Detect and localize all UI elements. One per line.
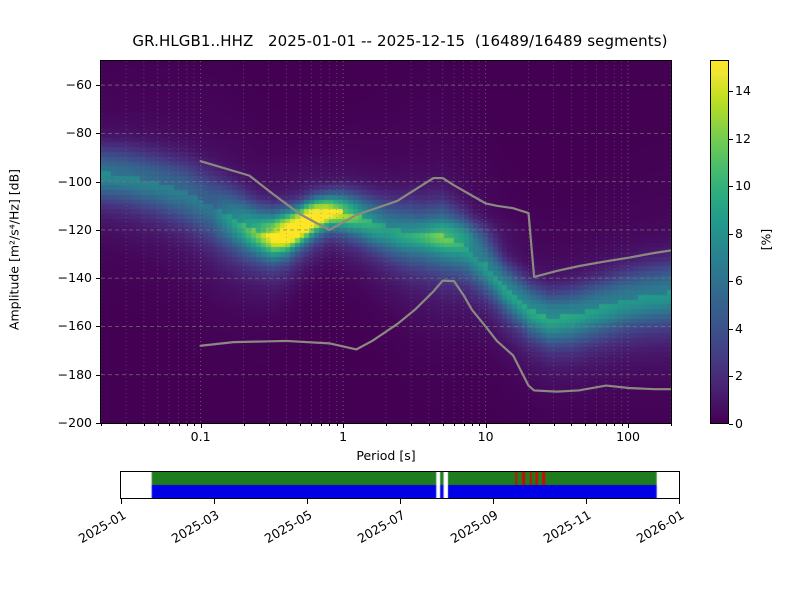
x-minor-tick (179, 424, 180, 426)
coverage-bars (121, 472, 679, 498)
colorbar-gradient (711, 61, 728, 423)
y-tick-label: −100 (46, 174, 92, 189)
y-tick-label: −140 (46, 270, 92, 285)
ppsd-histogram-heatmap (101, 61, 671, 423)
x-minor-tick (622, 424, 623, 426)
x-minor-tick (337, 424, 338, 426)
timeline-tick-label: 2025-05 (253, 507, 314, 551)
x-minor-tick (671, 424, 672, 426)
timeline-tick-label: 2025-01 (67, 507, 128, 551)
y-tick-label: −160 (46, 318, 92, 333)
y-tick-label: −60 (46, 77, 92, 92)
x-minor-tick (321, 424, 322, 426)
colorbar-tick-mark (729, 424, 733, 425)
y-tick-mark (96, 423, 100, 424)
x-minor-tick (606, 424, 607, 426)
x-minor-tick (411, 424, 412, 426)
colorbar-tick-label: 14 (735, 83, 751, 98)
y-tick-label: −120 (46, 222, 92, 237)
colorbar-tick-mark (729, 91, 733, 92)
x-minor-tick (311, 424, 312, 426)
x-minor-tick (454, 424, 455, 426)
y-tick-label: −180 (46, 367, 92, 382)
colorbar-tick-label: 10 (735, 178, 751, 193)
colorbar-tick-mark (729, 376, 733, 377)
timeline-tick-mark (586, 499, 587, 504)
timeline-tick-label: 2025-03 (160, 507, 221, 551)
x-minor-tick (443, 424, 444, 426)
colorbar-tick-mark (729, 186, 733, 187)
ppsd-figure: GR.HLGB1..HHZ 2025-01-01 -- 2025-12-15 (… (0, 0, 800, 600)
x-minor-tick (126, 424, 127, 426)
colorbar-tick-label: 6 (735, 273, 743, 288)
x-minor-tick (187, 424, 188, 426)
x-minor-tick (614, 424, 615, 426)
x-minor-tick (479, 424, 480, 426)
y-tick-label: −80 (46, 125, 92, 140)
x-tick-label: 1 (313, 429, 373, 444)
timeline-tick-mark (121, 499, 122, 504)
x-minor-tick (158, 424, 159, 426)
y-axis-label: Amplitude [m²/s⁴/Hz] [dB] (7, 90, 22, 410)
x-minor-tick (329, 424, 330, 426)
x-minor-tick (169, 424, 170, 426)
y-tick-mark (96, 375, 100, 376)
x-minor-tick (464, 424, 465, 426)
colorbar-tick-label: 0 (735, 416, 743, 431)
colorbar-tick-label: 12 (735, 131, 751, 146)
x-minor-tick (529, 424, 530, 426)
timeline-tick-mark (307, 499, 308, 504)
x-tick-label: 100 (598, 429, 658, 444)
colorbar-tick-mark (729, 139, 733, 140)
colorbar-tick-mark (729, 281, 733, 282)
x-minor-tick (596, 424, 597, 426)
y-tick-mark (96, 133, 100, 134)
y-tick-mark (96, 278, 100, 279)
x-minor-tick (628, 424, 629, 428)
x-tick-label: 10 (456, 429, 516, 444)
colorbar-tick-mark (729, 329, 733, 330)
colorbar-tick-label: 8 (735, 226, 743, 241)
x-minor-tick (386, 424, 387, 426)
colorbar-tick-mark (729, 234, 733, 235)
x-minor-tick (554, 424, 555, 426)
timeline-tick-label: 2025-07 (346, 507, 407, 551)
timeline-tick-label: 2026-01 (625, 507, 686, 551)
x-minor-tick (585, 424, 586, 426)
x-minor-tick (269, 424, 270, 426)
timeline-tick-mark (400, 499, 401, 504)
timeline-tick-label: 2025-11 (532, 507, 593, 551)
y-tick-mark (96, 182, 100, 183)
colorbar (710, 60, 729, 424)
colorbar-label: [%] (759, 180, 774, 300)
y-tick-mark (96, 85, 100, 86)
x-minor-tick (343, 424, 344, 428)
ppsd-axes[interactable] (100, 60, 672, 424)
x-tick-label: 0.1 (171, 429, 231, 444)
x-minor-tick (300, 424, 301, 426)
colorbar-tick-label: 2 (735, 368, 743, 383)
timeline-tick-label: 2025-09 (439, 507, 500, 551)
x-minor-tick (101, 424, 102, 426)
x-minor-tick (571, 424, 572, 426)
timeline-tick-mark (679, 499, 680, 504)
timeline-tick-mark (493, 499, 494, 504)
x-minor-tick (201, 424, 202, 428)
colorbar-tick-label: 4 (735, 321, 743, 336)
y-tick-label: −200 (46, 415, 92, 430)
x-minor-tick (472, 424, 473, 426)
figure-title: GR.HLGB1..HHZ 2025-01-01 -- 2025-12-15 (… (0, 32, 800, 50)
y-tick-mark (96, 326, 100, 327)
x-axis-label: Period [s] (100, 448, 672, 463)
x-minor-tick (144, 424, 145, 426)
x-minor-tick (244, 424, 245, 426)
x-minor-tick (429, 424, 430, 426)
x-minor-tick (194, 424, 195, 426)
data-coverage-timeline[interactable] (120, 471, 680, 499)
x-minor-tick (286, 424, 287, 426)
y-tick-mark (96, 230, 100, 231)
x-minor-tick (486, 424, 487, 428)
timeline-tick-mark (214, 499, 215, 504)
